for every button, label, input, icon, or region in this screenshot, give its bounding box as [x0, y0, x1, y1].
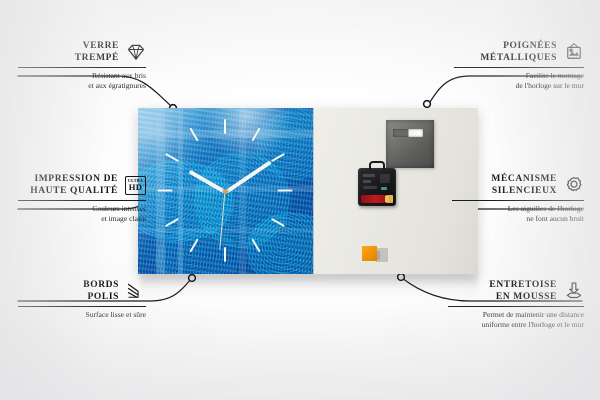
marker-metal-handles — [424, 101, 431, 108]
mechanism-battery — [361, 195, 393, 203]
callout-silent-mechanism: MÉCANISME SILENCIEUX Les aiguilles de l'… — [452, 173, 584, 223]
mechanism-detail — [363, 180, 371, 183]
callout-subtitle: Résistant aux bris et aux égratignures — [18, 71, 146, 90]
callout-subtitle: Facilite le montage de l'horloge sur le … — [454, 71, 584, 90]
wall-hanging-frame-icon — [564, 42, 584, 62]
ultra-hd-icon: ultra HD — [125, 176, 146, 195]
clock-face — [138, 108, 313, 274]
callout-title-row: POIGNÉES MÉTALLIQUES — [454, 40, 584, 64]
callout-tempered-glass: VERRE TREMPÉ Résistant aux bris et aux é… — [18, 40, 146, 90]
callout-title-row: ENTRETOISE EN MOUSSE — [448, 279, 584, 303]
callout-title-row: BORDS POLIS — [18, 279, 146, 303]
callout-title: VERRE TREMPÉ — [75, 40, 119, 64]
callout-title: MÉCANISME SILENCIEUX — [491, 173, 557, 197]
clock-tick — [224, 119, 226, 134]
callout-divider — [452, 200, 584, 201]
callout-polished-edges: BORDS POLIS Surface lisse et sûre — [18, 279, 146, 320]
callout-divider — [18, 306, 146, 307]
product-reflection — [140, 274, 478, 300]
polished-edges-icon — [126, 281, 146, 301]
clock-tick — [158, 190, 173, 192]
mechanism-detail — [380, 174, 390, 183]
callout-subtitle: Les aiguilles de l'horloge ne font aucun… — [452, 204, 584, 223]
callout-metal-handles: POIGNÉES MÉTALLIQUES Facilite le montage… — [454, 40, 584, 90]
callout-title-row: VERRE TREMPÉ — [18, 40, 146, 64]
callout-title-row: IMPRESSION DE HAUTE QUALITÉ ultra HD — [18, 173, 146, 197]
clock-tick — [224, 247, 226, 262]
metal-hanger-plate — [386, 120, 434, 168]
callout-divider — [454, 67, 584, 68]
callout-divider — [18, 67, 146, 68]
callout-subtitle: Permet de maintenir une distance uniform… — [448, 310, 584, 329]
clock-tick — [278, 190, 293, 192]
callout-title-row: MÉCANISME SILENCIEUX — [452, 173, 584, 197]
mechanism-detail — [363, 174, 375, 177]
callout-divider — [18, 200, 146, 201]
callout-title: IMPRESSION DE HAUTE QUALITÉ — [30, 173, 118, 197]
arrow-down-onto-block-icon — [564, 281, 584, 301]
callout-title: BORDS POLIS — [83, 279, 119, 303]
ultra-hd-large-label: HD — [129, 183, 143, 192]
callout-subtitle: Couleurs intenses et image claire — [18, 204, 146, 223]
callout-foam-spacer: ENTRETOISE EN MOUSSE Permet de maintenir… — [448, 279, 584, 329]
pattern-highlight — [138, 108, 192, 164]
foam-spacer-shadow — [376, 248, 388, 262]
gear-icon — [564, 175, 584, 195]
clock-center-hub — [223, 189, 228, 194]
diamond-icon — [126, 42, 146, 62]
foam-spacer — [362, 246, 377, 261]
callout-title: POIGNÉES MÉTALLIQUES — [480, 40, 557, 64]
product-image — [138, 108, 478, 274]
callout-subtitle: Surface lisse et sûre — [18, 310, 146, 320]
callout-divider — [448, 306, 584, 307]
clock-mechanism — [358, 168, 396, 206]
mechanism-hanging-loop — [369, 161, 385, 170]
mechanism-detail — [363, 186, 377, 189]
callout-title: ENTRETOISE EN MOUSSE — [489, 279, 557, 303]
infographic-canvas: VERRE TREMPÉ Résistant aux bris et aux é… — [0, 0, 600, 400]
callout-print-quality: IMPRESSION DE HAUTE QUALITÉ ultra HD Cou… — [18, 173, 146, 223]
mechanism-detail — [381, 187, 387, 190]
